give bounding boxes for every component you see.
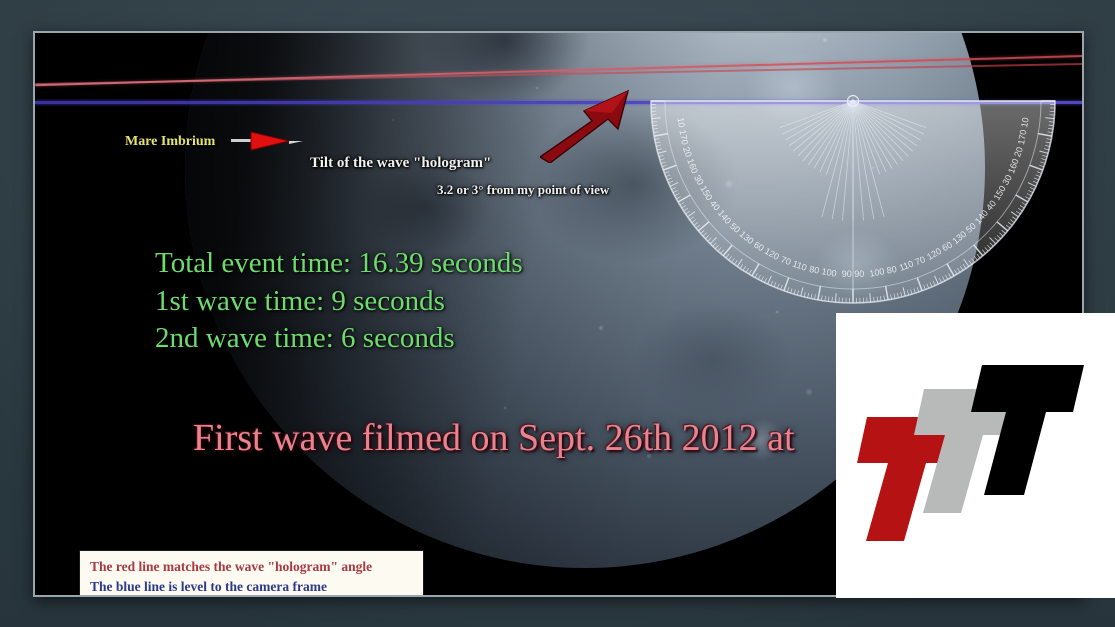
legend-line-red: The red line matches the wave "hologram"… <box>90 557 415 577</box>
tilt-sublabel: 3.2 or 3° from my point of view <box>437 182 609 198</box>
ttt-logo-icon <box>836 313 1115 598</box>
legend-box: The red line matches the wave "hologram"… <box>79 550 424 595</box>
protractor-overlay: 10 17020 16030 15040 14050 13060 12070 1… <box>643 95 1063 307</box>
stat-first-wave-time: 1st wave time: 9 seconds <box>155 283 523 321</box>
event-time-stats: Total event time: 16.39 seconds 1st wave… <box>155 245 523 358</box>
headline-text: First wave filmed on Sept. 26th 2012 at <box>193 416 795 460</box>
legend-line-blue: The blue line is level to the camera fra… <box>90 577 415 595</box>
stat-second-wave-time: 2nd wave time: 6 seconds <box>155 320 523 358</box>
mare-imbrium-label: Mare Imbrium <box>125 134 215 150</box>
ttt-logo-card <box>836 313 1115 598</box>
screen-root: 10 17020 16030 15040 14050 13060 12070 1… <box>0 0 1115 627</box>
stat-total-event-time: Total event time: 16.39 seconds <box>155 245 523 283</box>
right-arrow-icon <box>231 130 303 152</box>
tilt-label: Tilt of the wave "hologram" <box>310 155 491 172</box>
up-right-arrow-icon <box>540 83 645 163</box>
